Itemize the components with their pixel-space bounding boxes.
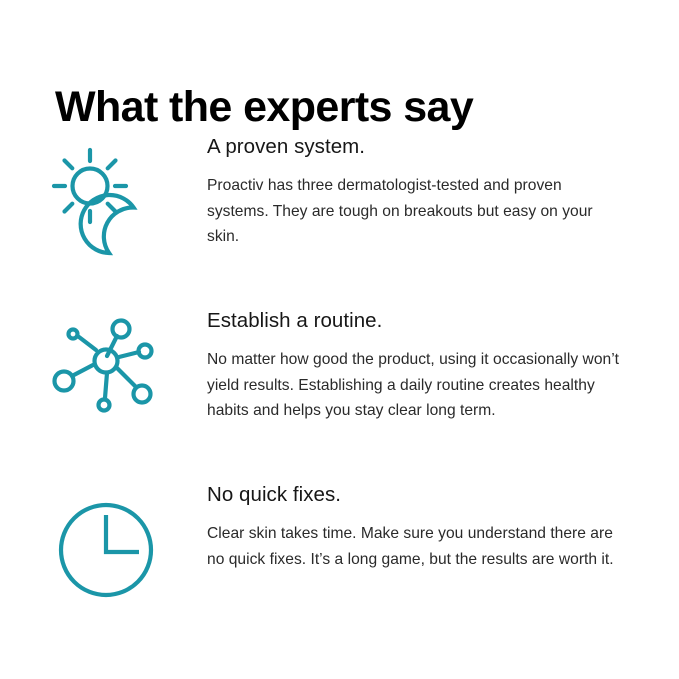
- icon-container: [0, 482, 207, 611]
- text-container: No quick fixes. Clear skin takes time. M…: [207, 482, 679, 572]
- network-nodes-icon: [47, 312, 162, 437]
- section-heading: A proven system.: [207, 134, 639, 160]
- text-container: Establish a routine. No matter how good …: [207, 308, 679, 424]
- clock-icon: [47, 486, 162, 611]
- section-body: No matter how good the product, using it…: [207, 347, 627, 424]
- section-heading: No quick fixes.: [207, 482, 639, 508]
- expert-tips-page: What the experts say: [0, 0, 679, 679]
- section-body: Clear skin takes time. Make sure you und…: [207, 521, 627, 572]
- section-body: Proactiv has three dermatologist-tested …: [207, 173, 627, 250]
- list-item: A proven system. Proactiv has three derm…: [0, 134, 679, 289]
- tips-list: A proven system. Proactiv has three derm…: [0, 134, 679, 637]
- icon-container: [0, 308, 207, 437]
- text-container: A proven system. Proactiv has three derm…: [207, 134, 679, 250]
- list-item: Establish a routine. No matter how good …: [0, 308, 679, 463]
- sun-and-moon-icon: [47, 138, 162, 263]
- icon-container: [0, 134, 207, 263]
- page-title: What the experts say: [55, 80, 473, 134]
- list-item: No quick fixes. Clear skin takes time. M…: [0, 482, 679, 637]
- section-heading: Establish a routine.: [207, 308, 639, 334]
